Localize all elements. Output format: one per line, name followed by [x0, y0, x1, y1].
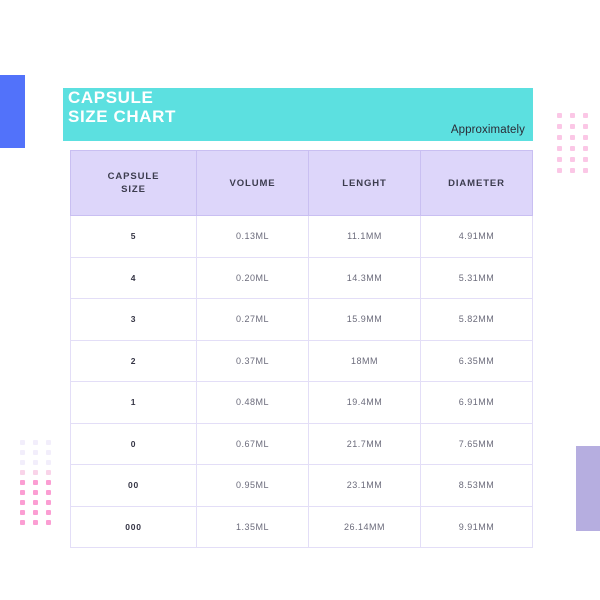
- decorative-dot: [583, 146, 588, 151]
- decorative-dot: [557, 124, 562, 129]
- decorative-dot: [33, 490, 38, 495]
- cell-volume: 0.37ML: [197, 340, 309, 382]
- chart-banner: CAPSULE SIZE CHART Approximately: [63, 88, 533, 141]
- decorative-dot: [20, 450, 25, 455]
- decorative-dot: [20, 460, 25, 465]
- table-row: 0001.35ML26.14MM9.91MM: [71, 506, 533, 548]
- capsule-size-chart-page: CAPSULE SIZE CHART Approximately CAPSULE…: [0, 0, 600, 600]
- decorative-dot: [570, 113, 575, 118]
- decorative-dot: [20, 440, 25, 445]
- decorative-purple-rectangle: [576, 446, 600, 531]
- cell-size: 000: [71, 506, 197, 548]
- cell-diameter: 4.91MM: [421, 216, 533, 258]
- cell-size: 1: [71, 382, 197, 424]
- cell-diameter: 5.31MM: [421, 257, 533, 299]
- decorative-dot: [20, 470, 25, 475]
- decorative-dot: [46, 460, 51, 465]
- column-header-0: CAPSULESIZE: [71, 151, 197, 216]
- decorative-dot: [583, 168, 588, 173]
- decorative-dot: [583, 124, 588, 129]
- decorative-dot-grid-right: [557, 113, 588, 173]
- decorative-dot: [46, 490, 51, 495]
- table-row: 00.67ML21.7MM7.65MM: [71, 423, 533, 465]
- cell-volume: 0.13ML: [197, 216, 309, 258]
- cell-length: 11.1MM: [309, 216, 421, 258]
- cell-length: 21.7MM: [309, 423, 421, 465]
- decorative-dot: [46, 480, 51, 485]
- table-body: 50.13ML11.1MM4.91MM40.20ML14.3MM5.31MM30…: [71, 216, 533, 548]
- cell-length: 15.9MM: [309, 299, 421, 341]
- decorative-dot: [20, 500, 25, 505]
- cell-diameter: 5.82MM: [421, 299, 533, 341]
- table-row: 50.13ML11.1MM4.91MM: [71, 216, 533, 258]
- table-row: 20.37ML18MM6.35MM: [71, 340, 533, 382]
- table-row: 000.95ML23.1MM8.53MM: [71, 465, 533, 507]
- decorative-dot: [46, 440, 51, 445]
- decorative-dot: [570, 135, 575, 140]
- cell-size: 4: [71, 257, 197, 299]
- cell-volume: 1.35ML: [197, 506, 309, 548]
- capsule-size-table: CAPSULESIZEVOLUMELENGHTDIAMETER 50.13ML1…: [70, 150, 533, 548]
- decorative-dot: [33, 520, 38, 525]
- cell-volume: 0.20ML: [197, 257, 309, 299]
- decorative-dot: [46, 510, 51, 515]
- decorative-dot: [46, 520, 51, 525]
- decorative-dot: [20, 520, 25, 525]
- decorative-dot: [33, 460, 38, 465]
- cell-length: 19.4MM: [309, 382, 421, 424]
- decorative-dot: [46, 470, 51, 475]
- table-row: 10.48ML19.4MM6.91MM: [71, 382, 533, 424]
- capsule-size-table-wrapper: CAPSULESIZEVOLUMELENGHTDIAMETER 50.13ML1…: [70, 150, 532, 520]
- cell-diameter: 7.65MM: [421, 423, 533, 465]
- cell-size: 2: [71, 340, 197, 382]
- table-row: 40.20ML14.3MM5.31MM: [71, 257, 533, 299]
- decorative-dot: [20, 490, 25, 495]
- cell-length: 23.1MM: [309, 465, 421, 507]
- decorative-dot: [46, 450, 51, 455]
- decorative-dot: [557, 168, 562, 173]
- cell-diameter: 9.91MM: [421, 506, 533, 548]
- cell-volume: 0.27ML: [197, 299, 309, 341]
- decorative-dot: [33, 440, 38, 445]
- cell-size: 0: [71, 423, 197, 465]
- decorative-dot: [557, 135, 562, 140]
- cell-volume: 0.48ML: [197, 382, 309, 424]
- table-header: CAPSULESIZEVOLUMELENGHTDIAMETER: [71, 151, 533, 216]
- decorative-dot: [557, 157, 562, 162]
- decorative-dot: [570, 168, 575, 173]
- cell-diameter: 8.53MM: [421, 465, 533, 507]
- cell-volume: 0.67ML: [197, 423, 309, 465]
- cell-diameter: 6.35MM: [421, 340, 533, 382]
- decorative-dot: [570, 124, 575, 129]
- decorative-dot: [583, 113, 588, 118]
- cell-length: 14.3MM: [309, 257, 421, 299]
- decorative-dot: [20, 510, 25, 515]
- decorative-blue-rectangle: [0, 75, 25, 148]
- cell-diameter: 6.91MM: [421, 382, 533, 424]
- decorative-dot: [33, 480, 38, 485]
- column-header-3: DIAMETER: [421, 151, 533, 216]
- decorative-dot: [33, 500, 38, 505]
- decorative-dot: [33, 510, 38, 515]
- approximately-note: Approximately: [451, 124, 525, 136]
- decorative-dot: [570, 146, 575, 151]
- decorative-dot: [33, 450, 38, 455]
- decorative-dot-grid-left: [20, 440, 51, 525]
- decorative-dot: [33, 470, 38, 475]
- cell-size: 3: [71, 299, 197, 341]
- decorative-dot: [583, 135, 588, 140]
- cell-length: 26.14MM: [309, 506, 421, 548]
- cell-size: 00: [71, 465, 197, 507]
- cell-size: 5: [71, 216, 197, 258]
- decorative-dot: [583, 157, 588, 162]
- decorative-dot: [20, 480, 25, 485]
- page-title: CAPSULE SIZE CHART: [68, 88, 176, 126]
- decorative-dot: [557, 146, 562, 151]
- column-header-1: VOLUME: [197, 151, 309, 216]
- decorative-dot: [557, 113, 562, 118]
- decorative-dot: [46, 500, 51, 505]
- table-header-row: CAPSULESIZEVOLUMELENGHTDIAMETER: [71, 151, 533, 216]
- table-row: 30.27ML15.9MM5.82MM: [71, 299, 533, 341]
- column-header-2: LENGHT: [309, 151, 421, 216]
- decorative-dot: [570, 157, 575, 162]
- cell-length: 18MM: [309, 340, 421, 382]
- cell-volume: 0.95ML: [197, 465, 309, 507]
